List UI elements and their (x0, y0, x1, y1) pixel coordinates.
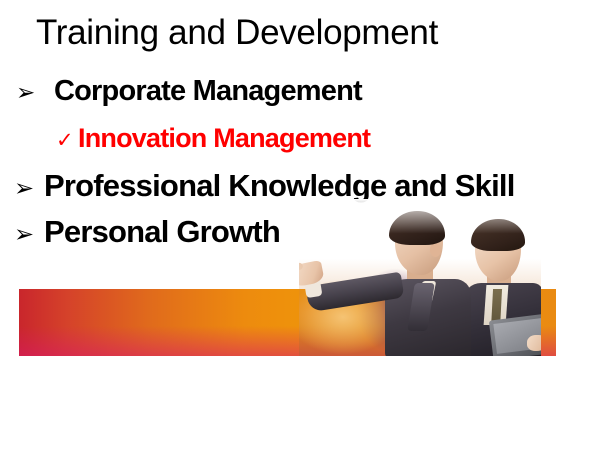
photo-top-fade (299, 199, 541, 356)
photo-businessmen (299, 199, 541, 356)
page-title: Training and Development (36, 12, 438, 54)
arrowhead-bullet-icon: ➢ (16, 80, 54, 106)
bullet-label: Corporate Management (54, 74, 362, 108)
bullet-item-personal-growth: ➢ Personal Growth (14, 214, 280, 250)
arrowhead-bullet-icon: ➢ (14, 220, 44, 248)
bullet-item-innovation-management: ✓ Innovation Management (56, 122, 370, 154)
bullet-label-highlighted: Innovation Management (78, 122, 370, 154)
checkmark-bullet-icon: ✓ (56, 128, 78, 152)
bullet-item-corporate-management: ➢ Corporate Management (16, 74, 362, 108)
bullet-label: Personal Growth (44, 214, 280, 250)
arrowhead-bullet-icon: ➢ (14, 174, 44, 202)
presentation-slide: Training and Development ➢ Corporate Man… (0, 0, 615, 461)
